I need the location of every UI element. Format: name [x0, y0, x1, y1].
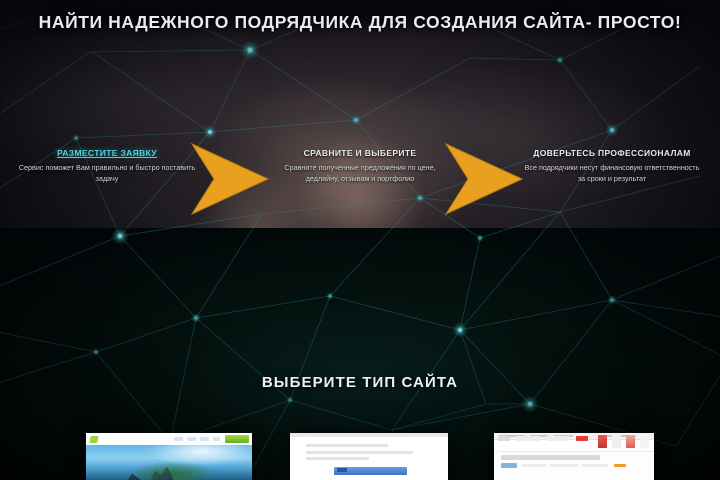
thumbnail-2-text-line — [306, 457, 369, 460]
thumbnail-3-product-tile — [612, 435, 621, 448]
step-item-1: РАЗМЕСТИТЕ ЗАЯВКУ Сервис поможет Вам пра… — [4, 148, 210, 184]
page-headline: НАЙТИ НАДЕЖНОГО ПОДРЯДЧИКА ДЛЯ СОЗДАНИЯ … — [0, 12, 720, 33]
section-title: ВЫБЕРИТЕ ТИП САЙТА — [0, 374, 720, 391]
step-1-title[interactable]: РАЗМЕСТИТЕ ЗАЯВКУ — [4, 148, 210, 158]
thumbnail-3-filter-item — [550, 464, 578, 467]
thumbnail-1-logo-icon — [89, 436, 98, 443]
vignette-overlay — [0, 0, 720, 480]
site-type-thumbnail-corporate[interactable] — [86, 433, 252, 480]
step-2-body: Сравните полученные предложения по цене,… — [255, 163, 465, 184]
site-type-thumbnails — [0, 433, 720, 480]
step-item-2: СРАВНИТЕ И ВЫБЕРИТЕ Сравните полученные … — [255, 148, 465, 184]
thumbnail-1-hero-image — [86, 445, 252, 480]
landing-page: НАЙТИ НАДЕЖНОГО ПОДРЯДЧИКА ДЛЯ СОЗДАНИЯ … — [0, 0, 720, 480]
thumbnail-3-nav-item — [516, 436, 540, 441]
site-type-thumbnail-landing[interactable] — [290, 433, 448, 480]
thumbnail-3-product-tile — [640, 435, 649, 448]
thumbnail-3-price-accent — [614, 464, 626, 467]
thumbnail-3-nav-sale-badge — [576, 436, 588, 441]
thumbnail-1-menu-items — [174, 437, 220, 441]
thumbnail-1-rock-shape — [149, 465, 175, 480]
step-3-title: ДОВЕРЬТЕСЬ ПРОФЕССИОНАЛАМ — [508, 148, 716, 158]
thumbnail-2-text-line — [306, 444, 388, 447]
steps-row: РАЗМЕСТИТЕ ЗАЯВКУ Сервис поможет Вам пра… — [0, 148, 720, 214]
site-type-thumbnail-shop[interactable] — [494, 433, 654, 480]
thumbnail-2-topbar — [290, 433, 448, 437]
thumbnail-1-cta-button — [225, 435, 249, 443]
step-item-3: ДОВЕРЬТЕСЬ ПРОФЕССИОНАЛАМ Все подрядчики… — [508, 148, 716, 184]
thumbnail-3-product-tile — [598, 435, 607, 448]
thumbnail-3-product-tile — [626, 435, 635, 448]
thumbnail-1-rock-shape-2 — [126, 471, 146, 480]
thumbnail-3-filter-item — [522, 464, 546, 467]
thumbnail-3-nav-item — [498, 436, 510, 441]
thumbnail-2-text-line — [306, 451, 413, 454]
step-3-body: Все подрядчики несут финансовую ответств… — [508, 163, 716, 184]
step-1-body: Сервис поможет Вам правильно и быстро по… — [4, 163, 210, 184]
thumbnail-3-filter-badge — [501, 463, 517, 468]
thumbnail-2-highlight-accent — [337, 468, 347, 472]
thumbnail-3-page-heading — [501, 455, 600, 460]
thumbnail-3-nav-item — [546, 436, 570, 441]
thumbnail-3-filter-item — [582, 464, 608, 467]
step-2-title: СРАВНИТЕ И ВЫБЕРИТЕ — [255, 148, 465, 158]
